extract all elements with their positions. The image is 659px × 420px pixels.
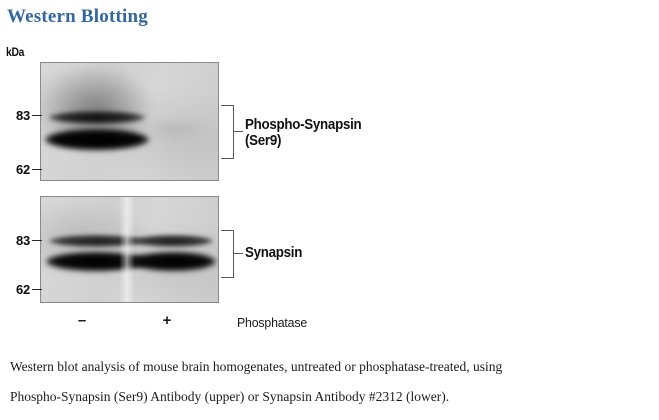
axis-unit-label: kDa [6, 45, 24, 59]
blot-label-phospho-synapsin-line2: (Ser9) [245, 134, 361, 150]
figure-caption-line2: Phospho-Synapsin (Ser9) Antibody (upper)… [10, 382, 650, 412]
band-upper-lane1-83kda [49, 111, 145, 124]
mw-tick-83-lower [32, 240, 42, 241]
band-upper-lane2-faint [137, 121, 211, 137]
blot-label-synapsin: Synapsin [245, 246, 302, 262]
band-lower-lane2-70kda [130, 252, 216, 271]
figure-caption: Western blot analysis of mouse brain hom… [10, 352, 650, 412]
lane-sign-untreated: – [72, 312, 92, 329]
blot-label-phospho-synapsin: Phospho-Synapsin (Ser9) [245, 118, 361, 149]
bracket-upper [221, 105, 234, 159]
mw-marker-62-lower: 62 [8, 282, 30, 297]
figure-caption-line1: Western blot analysis of mouse brain hom… [10, 352, 650, 382]
blot-panel-upper [40, 62, 219, 181]
mw-tick-62-upper [32, 169, 42, 170]
lane-sign-treated: + [157, 312, 177, 329]
blot-panel-lower [40, 196, 219, 303]
bracket-stem-upper [234, 131, 243, 132]
mw-marker-83-upper: 83 [8, 108, 30, 123]
bracket-lower [221, 230, 234, 278]
mw-tick-62-lower [32, 289, 42, 290]
mw-marker-62-upper: 62 [8, 162, 30, 177]
page-title: Western Blotting [7, 6, 148, 28]
lane-separator-lower [119, 197, 135, 302]
blot-label-phospho-synapsin-line1: Phospho-Synapsin [245, 118, 361, 134]
treatment-label: Phosphatase [237, 315, 307, 330]
band-upper-lane1-70kda [45, 129, 149, 150]
mw-marker-83-lower: 83 [8, 233, 30, 248]
mw-tick-83-upper [32, 115, 42, 116]
band-lower-lane2-83kda [133, 235, 213, 247]
bracket-stem-lower [234, 253, 243, 254]
western-blot-figure: kDa 83 62 Phospho-Synapsin (Ser9) 83 62 … [0, 36, 659, 341]
